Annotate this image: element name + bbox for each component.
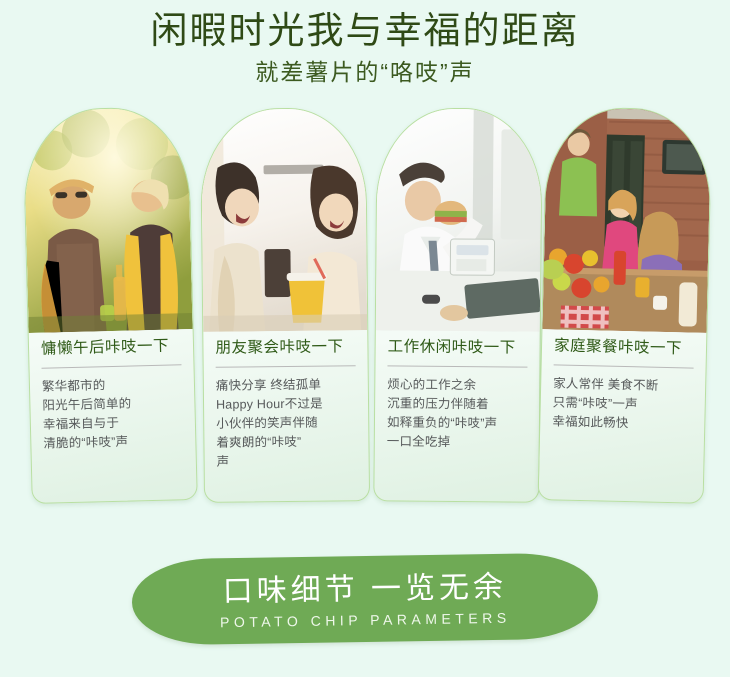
card-divider	[554, 364, 694, 368]
banner-inner: 口味细节 一览无余 POTATO CHIP PARAMETERS	[131, 552, 598, 645]
card-heading: 朋友聚会咔吱一下	[215, 336, 357, 359]
family-outdoor-meal-photo	[542, 107, 711, 333]
card-heading: 工作休闲咔吱一下	[388, 336, 530, 359]
card-text-line: 清脆的“咔吱”声	[43, 431, 185, 453]
card-text: 家人常伴 美食不断 只需“咔吱”一声 幸福如此畅快	[552, 374, 695, 434]
card-text-line: 幸福如此畅快	[552, 412, 694, 434]
card-divider	[42, 364, 182, 368]
page-title: 闲暇时光我与幸福的距离	[0, 8, 730, 54]
scenario-card[interactable]: 朋友聚会咔吱一下 痛快分享 终结孤单 Happy Hour不过是 小伙伴的笑声伴…	[200, 107, 370, 503]
scenario-card-list: 慵懒午后咔吱一下 繁华都市的 阳光午后简单的 幸福来自与于 清脆的“咔吱”声	[0, 108, 730, 508]
card-text-line: 沉重的压力伴随着	[387, 394, 529, 414]
card-text-line: 着爽朗的“咔吱”	[216, 432, 358, 452]
section-banner-wrap: 口味细节 一览无余 POTATO CHIP PARAMETERS	[0, 552, 730, 652]
card-body: 慵懒午后咔吱一下 繁华都市的 阳光午后简单的 幸福来自与于 清脆的“咔吱”声	[29, 329, 196, 454]
card-photo	[542, 107, 711, 333]
card-text-line: 如释重负的“咔吱”声	[387, 413, 529, 433]
card-divider	[216, 365, 356, 367]
card-photo	[201, 108, 367, 332]
card-text-line: 痛快分享 终结孤单	[216, 375, 358, 395]
card-text-line: Happy Hour不过是	[216, 394, 358, 414]
section-banner[interactable]: 口味细节 一览无余 POTATO CHIP PARAMETERS	[131, 552, 598, 645]
scenario-card[interactable]: 慵懒午后咔吱一下 繁华都市的 阳光午后简单的 幸福来自与于 清脆的“咔吱”声	[22, 106, 198, 504]
sunny-outdoor-couple-photo	[23, 107, 192, 333]
card-heading: 慵懒午后咔吱一下	[41, 335, 183, 360]
office-worker-eating-sandwich-photo	[376, 108, 542, 331]
card-heading: 家庭聚餐咔吱一下	[554, 335, 696, 360]
card-text-line: 声	[217, 451, 359, 471]
scenario-card[interactable]: 家庭聚餐咔吱一下 家人常伴 美食不断 只需“咔吱”一声 幸福如此畅快	[538, 106, 713, 504]
page-subtitle: 就差薯片的“咯吱”声	[0, 56, 730, 88]
banner-title-en: POTATO CHIP PARAMETERS	[220, 607, 511, 632]
banner-title-cn: 口味细节 一览无余	[222, 569, 507, 609]
card-text-line: 小伙伴的笑声伴随	[216, 413, 358, 433]
card-photo	[376, 108, 542, 331]
page-header: 闲暇时光我与幸福的距离 就差薯片的“咯吱”声	[0, 0, 730, 88]
card-photo	[23, 107, 192, 333]
card-text-line: 一口全吃掉	[387, 432, 529, 452]
card-divider	[387, 365, 527, 367]
card-text: 繁华都市的 阳光午后简单的 幸福来自与于 清脆的“咔吱”声	[42, 374, 186, 453]
card-body: 家庭聚餐咔吱一下 家人常伴 美食不断 只需“咔吱”一声 幸福如此畅快	[540, 329, 706, 435]
scenario-card[interactable]: 工作休闲咔吱一下 烦心的工作之余 沉重的压力伴随着 如释重负的“咔吱”声 一口全…	[373, 107, 542, 502]
card-text: 痛快分享 终结孤单 Happy Hour不过是 小伙伴的笑声伴随 着爽朗的“咔吱…	[216, 375, 359, 471]
friends-laughing-with-drinks-photo	[201, 108, 367, 332]
card-body: 工作休闲咔吱一下 烦心的工作之余 沉重的压力伴随着 如释重负的“咔吱”声 一口全…	[375, 330, 540, 452]
card-text: 烦心的工作之余 沉重的压力伴随着 如释重负的“咔吱”声 一口全吃掉	[387, 375, 530, 452]
card-text-line: 烦心的工作之余	[387, 375, 529, 395]
card-body: 朋友聚会咔吱一下 痛快分享 终结孤单 Happy Hour不过是 小伙伴的笑声伴…	[203, 330, 368, 472]
